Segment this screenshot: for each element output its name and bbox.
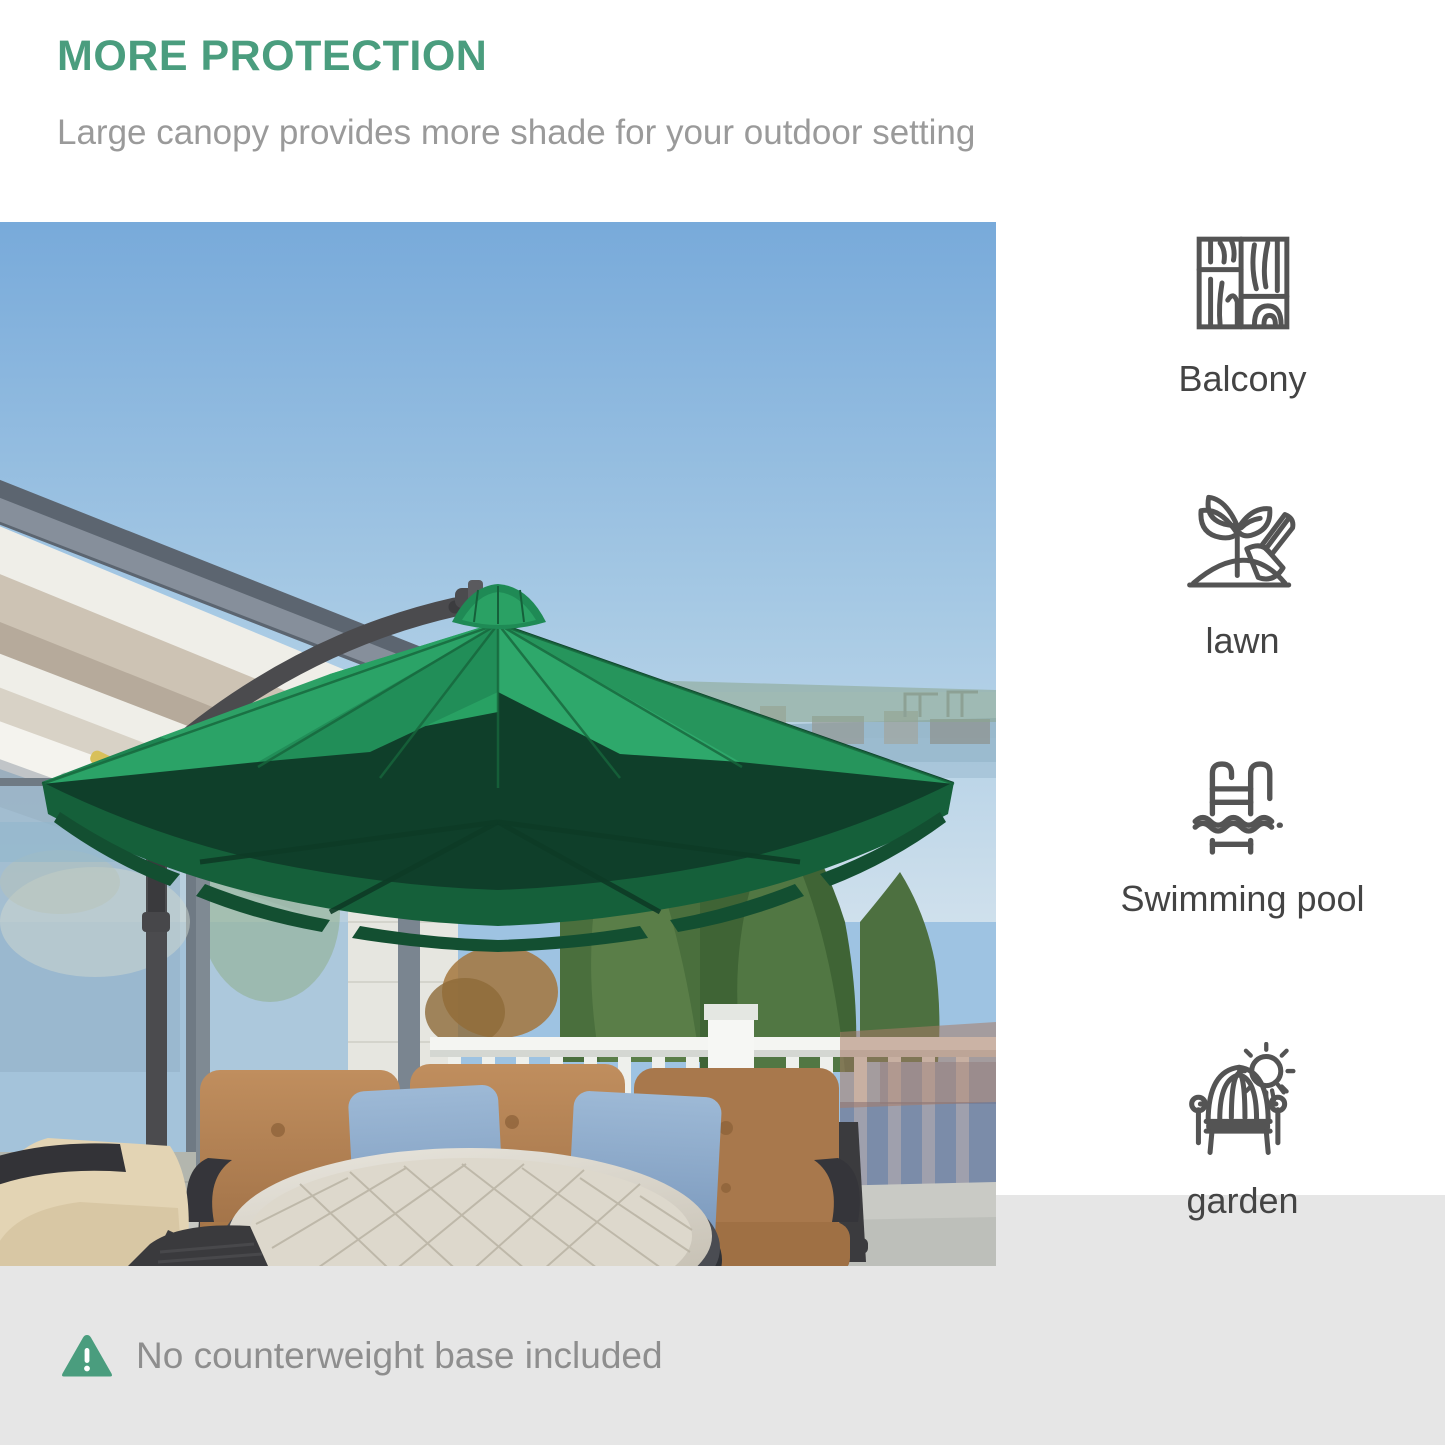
pool-ladder-icon [1178, 752, 1308, 864]
feature-item-balcony: Balcony [1040, 222, 1445, 400]
page-title: MORE PROTECTION [57, 32, 487, 81]
feature-label: Swimming pool [1040, 878, 1445, 920]
feature-label: Balcony [1040, 358, 1445, 400]
wood-panel-icon [1182, 222, 1304, 344]
header-band: MORE PROTECTION Large canopy provides mo… [0, 0, 1445, 222]
adirondack-chair-sun-icon [1181, 1042, 1305, 1166]
feature-label: lawn [1040, 620, 1445, 662]
product-photo [0, 222, 996, 1266]
page-subtitle: Large canopy provides more shade for you… [57, 113, 975, 153]
feature-item-lawn: lawn [1040, 484, 1445, 662]
warning-triangle-icon [60, 1332, 114, 1380]
footer-note: No counterweight base included [0, 1266, 996, 1445]
feature-label: garden [1040, 1180, 1445, 1222]
footer-text: No counterweight base included [136, 1335, 663, 1377]
feature-item-garden: garden [1040, 1042, 1445, 1222]
feature-item-swimming-pool: Swimming pool [1040, 752, 1445, 920]
feature-list: Balcony lawn [1040, 222, 1445, 1322]
plant-trowel-icon [1178, 484, 1308, 606]
